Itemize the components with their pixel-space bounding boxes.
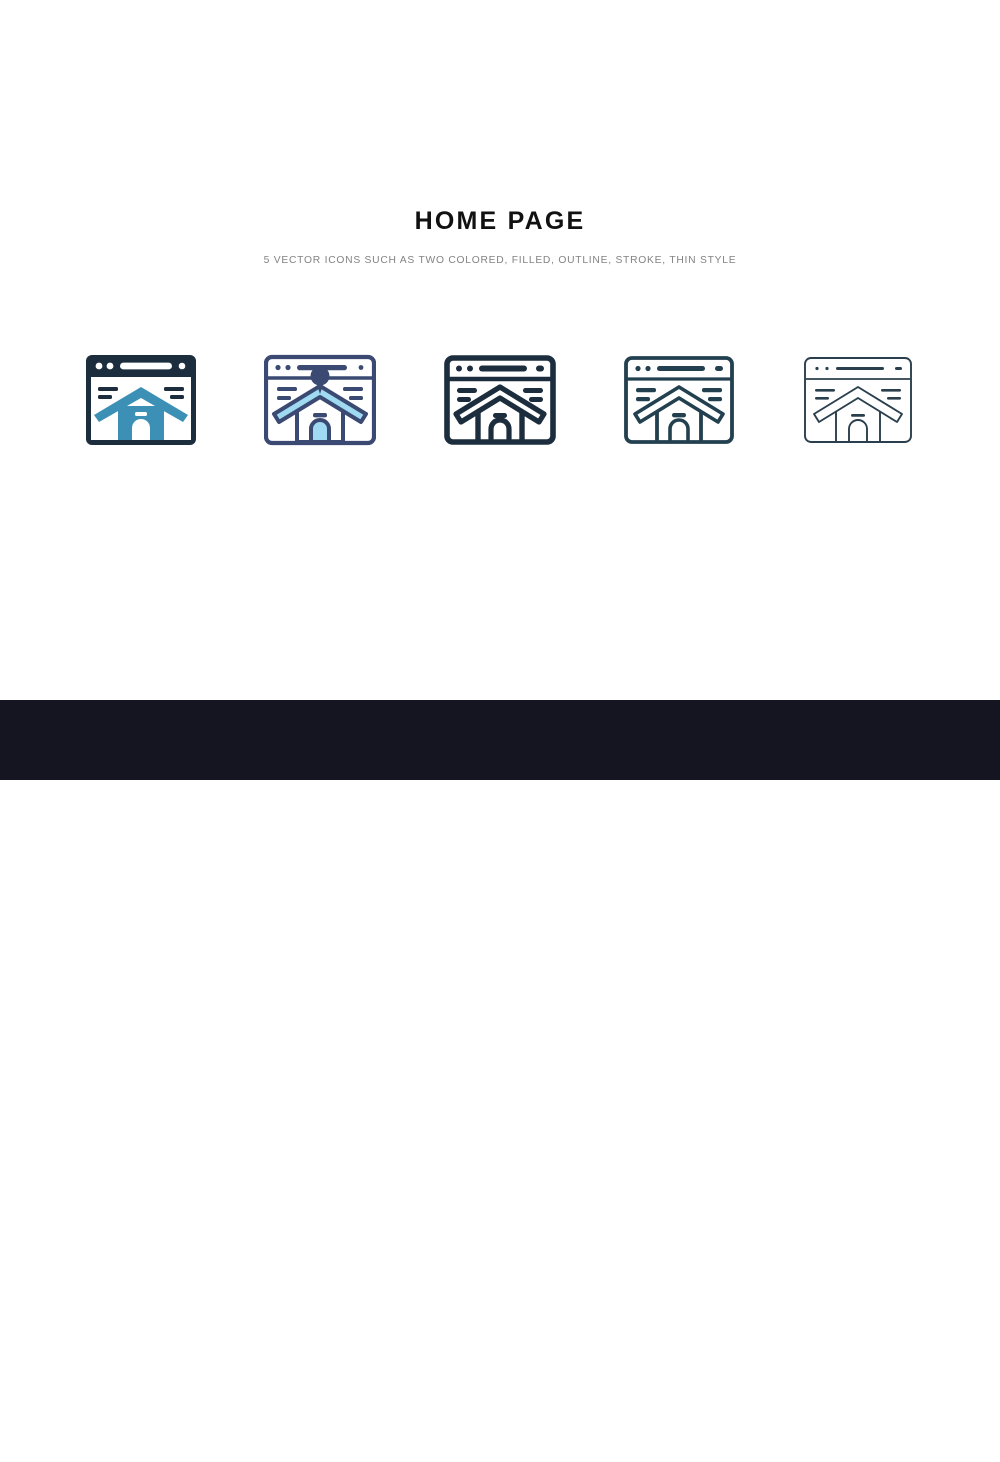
page-title: HOME PAGE xyxy=(0,206,1000,236)
vectorstock-logo[interactable]: Vector Stock ® xyxy=(29,1419,249,1461)
home-page-icon-thin[interactable] xyxy=(788,340,928,460)
home-page-icon-outline[interactable] xyxy=(430,340,570,460)
page-subtitle: 5 VECTOR ICONS SUCH AS TWO COLORED, FILL… xyxy=(0,254,1000,268)
canvas: HOME PAGE 5 VECTOR ICONS SUCH AS TWO COL… xyxy=(0,0,1000,780)
logo-primary-text: Vector xyxy=(29,1419,135,1461)
home-page-icon-stroke[interactable] xyxy=(609,340,749,460)
home-page-icon-thin-glyph xyxy=(802,354,914,446)
registered-trademark-icon: ® xyxy=(239,1421,249,1441)
home-page-icon-outline-glyph xyxy=(444,354,556,446)
heading-block: HOME PAGE 5 VECTOR ICONS SUCH AS TWO COL… xyxy=(0,206,1000,268)
home-page-icon-two-colored-glyph xyxy=(85,354,197,446)
home-page-icon-two-colored[interactable] xyxy=(71,340,211,460)
footer-bar: Vector Stock ® VectorStock.com/27610782 xyxy=(0,700,1000,780)
icon-row xyxy=(0,340,1000,460)
home-page-icon-filled-glyph xyxy=(264,354,376,446)
home-page-icon-stroke-glyph xyxy=(623,354,735,446)
logo-secondary-text: Stock xyxy=(135,1419,238,1461)
home-page-icon-filled[interactable] xyxy=(250,340,390,460)
footer-url: VectorStock.com/27610782 xyxy=(738,1429,972,1452)
